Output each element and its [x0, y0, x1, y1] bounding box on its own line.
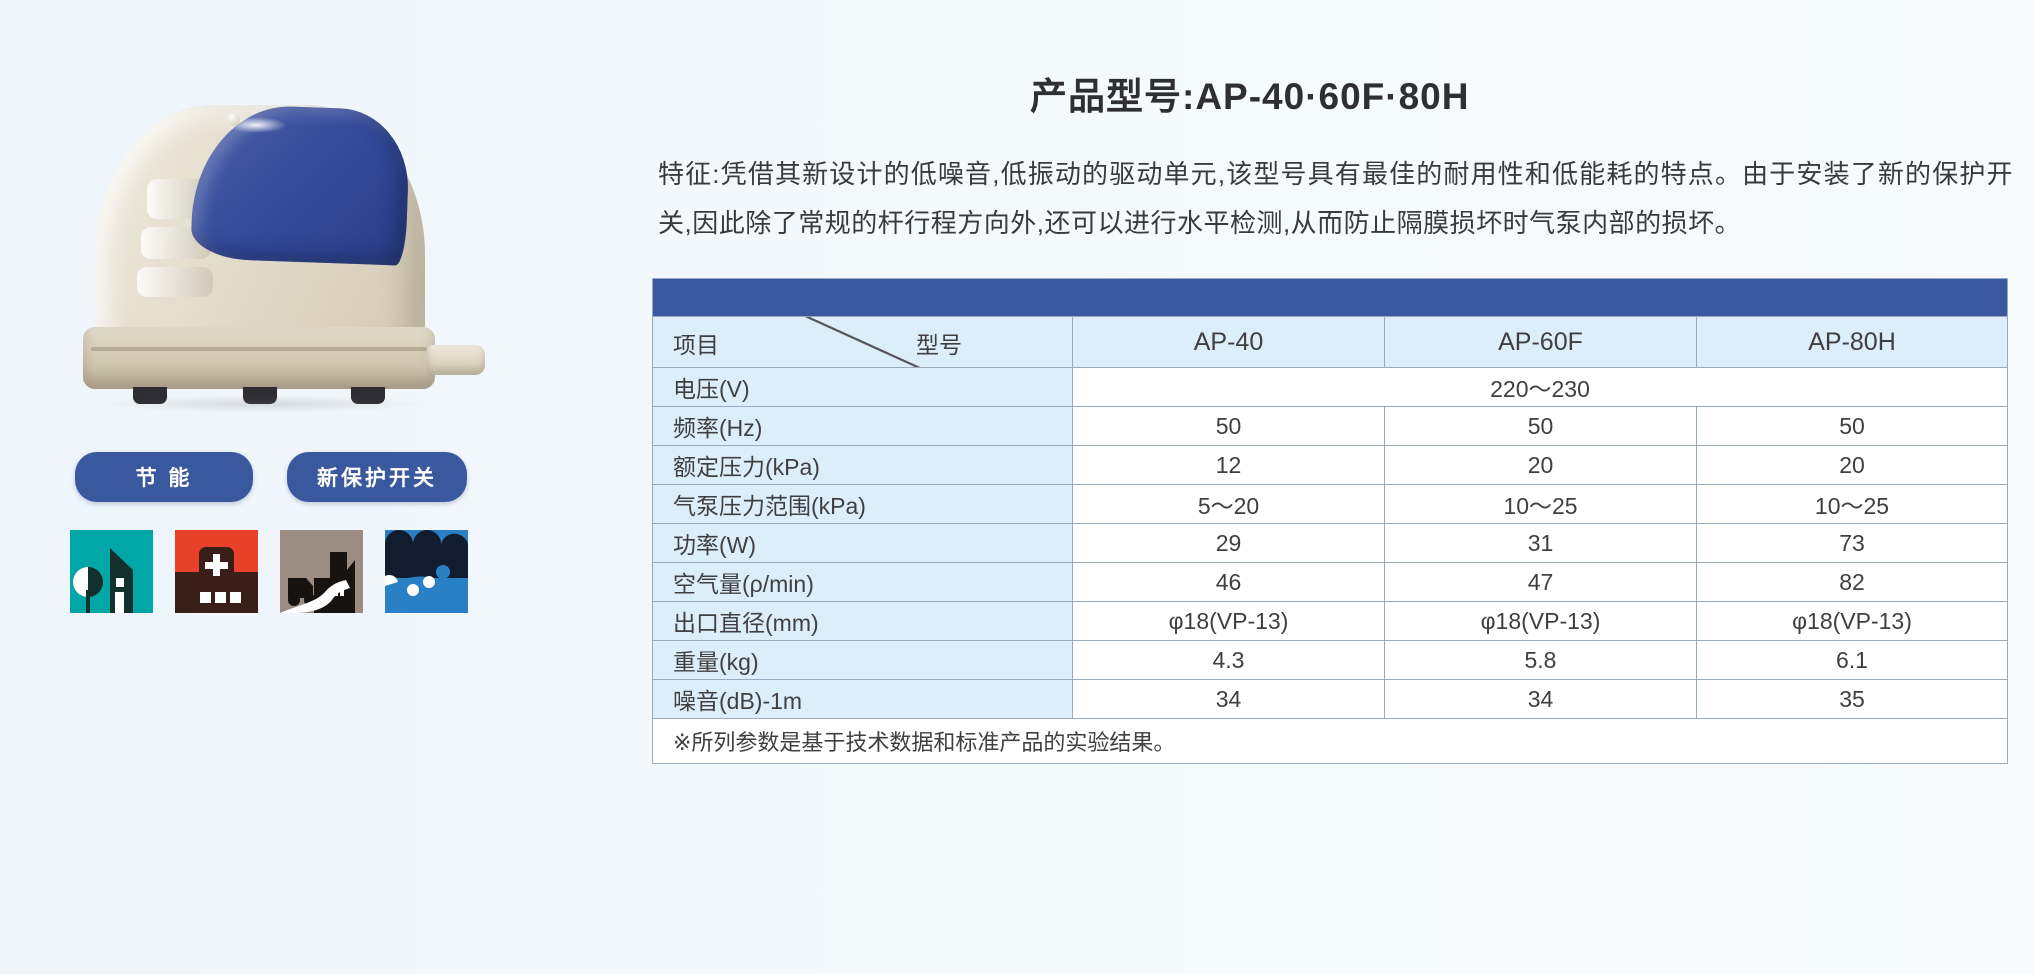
table-row: 空气量(ρ/min) 46 47 82	[653, 563, 2008, 602]
hospital-icon	[175, 530, 258, 613]
product-image	[75, 95, 535, 425]
row-label: 频率(Hz)	[653, 407, 1073, 446]
right-column: 产品型号:AP-40·60F·80H 特征:凭借其新设计的低噪音,低振动的驱动单…	[640, 0, 2034, 974]
row-value: 4.3	[1073, 641, 1385, 680]
table-row: 电压(V) 220〜230	[653, 368, 2008, 407]
row-value: φ18(VP-13)	[1385, 602, 1697, 641]
row-label: 重量(kg)	[653, 641, 1073, 680]
pump-shadow	[99, 395, 429, 413]
header-corner-cell: 项目 型号	[653, 317, 1073, 368]
row-value: φ18(VP-13)	[1073, 602, 1385, 641]
row-value: 50	[1385, 407, 1697, 446]
header-model-ap60f: AP-60F	[1385, 317, 1697, 368]
row-value: 12	[1073, 446, 1385, 485]
row-value: 20	[1697, 446, 2008, 485]
row-value: 34	[1073, 680, 1385, 719]
feature-badges: 节 能 新保护开关	[75, 452, 467, 502]
row-value: 73	[1697, 524, 2008, 563]
table-row: 功率(W) 29 31 73	[653, 524, 2008, 563]
pump-indicator-dot	[227, 113, 240, 126]
row-value: 46	[1073, 563, 1385, 602]
row-value: 29	[1073, 524, 1385, 563]
application-icons	[70, 530, 468, 613]
left-column: 节 能 新保护开关	[0, 0, 640, 974]
table-footnote: ※所列参数是基于技术数据和标准产品的实验结果。	[653, 719, 2008, 764]
row-value: 82	[1697, 563, 2008, 602]
row-value: 50	[1073, 407, 1385, 446]
table-row: 噪音(dB)-1m 34 34 35	[653, 680, 2008, 719]
pump-seam	[91, 347, 427, 351]
table-header-row: 项目 型号 AP-40 AP-60F AP-80H	[653, 317, 2008, 368]
row-value: 6.1	[1697, 641, 2008, 680]
header-model-ap40: AP-40	[1073, 317, 1385, 368]
row-value: 10〜25	[1385, 485, 1697, 524]
pump-ridge	[137, 267, 213, 297]
row-value: 34	[1385, 680, 1697, 719]
row-label: 空气量(ρ/min)	[653, 563, 1073, 602]
spec-table-container: 项目 型号 AP-40 AP-60F AP-80H 电压(V) 220〜230 …	[652, 278, 2007, 764]
badge-energy-saving: 节 能	[75, 452, 253, 502]
row-value: 20	[1385, 446, 1697, 485]
table-row: 气泵压力范围(kPa) 5〜20 10〜25 10〜25	[653, 485, 2008, 524]
table-top-accent-bar	[653, 279, 2008, 317]
house-garden-icon	[70, 530, 153, 613]
spec-table: 项目 型号 AP-40 AP-60F AP-80H 电压(V) 220〜230 …	[652, 278, 2008, 764]
fish-water-icon	[385, 530, 468, 613]
factory-road-icon	[280, 530, 363, 613]
row-label: 出口直径(mm)	[653, 602, 1073, 641]
product-description: 特征:凭借其新设计的低噪音,低振动的驱动单元,该型号具有最佳的耐用性和低能耗的特…	[658, 150, 2013, 248]
row-label: 功率(W)	[653, 524, 1073, 563]
table-row: 重量(kg) 4.3 5.8 6.1	[653, 641, 2008, 680]
table-row: 频率(Hz) 50 50 50	[653, 407, 2008, 446]
row-label: 噪音(dB)-1m	[653, 680, 1073, 719]
table-row: 额定压力(kPa) 12 20 20	[653, 446, 2008, 485]
header-model-label: 型号	[916, 326, 962, 360]
header-model-ap80h: AP-80H	[1697, 317, 2008, 368]
row-value: 5〜20	[1073, 485, 1385, 524]
row-value: 50	[1697, 407, 2008, 446]
row-value: 47	[1385, 563, 1697, 602]
row-value: 35	[1697, 680, 2008, 719]
row-label: 电压(V)	[653, 368, 1073, 407]
table-row: 出口直径(mm) φ18(VP-13) φ18(VP-13) φ18(VP-13…	[653, 602, 2008, 641]
product-spec-page: 节 能 新保护开关	[0, 0, 2034, 974]
header-item-label: 项目	[673, 326, 719, 360]
badge-new-protection-switch: 新保护开关	[287, 452, 467, 502]
table-footnote-row: ※所列参数是基于技术数据和标准产品的实验结果。	[653, 719, 2008, 764]
pump-base	[83, 327, 435, 389]
row-value: 5.8	[1385, 641, 1697, 680]
row-label: 额定压力(kPa)	[653, 446, 1073, 485]
row-value: 31	[1385, 524, 1697, 563]
page-title: 产品型号:AP-40·60F·80H	[1030, 66, 1469, 120]
row-label: 气泵压力范围(kPa)	[653, 485, 1073, 524]
pump-outlet-nozzle	[427, 345, 485, 375]
row-value: φ18(VP-13)	[1697, 602, 2008, 641]
row-value: 220〜230	[1073, 368, 2008, 407]
row-value: 10〜25	[1697, 485, 2008, 524]
